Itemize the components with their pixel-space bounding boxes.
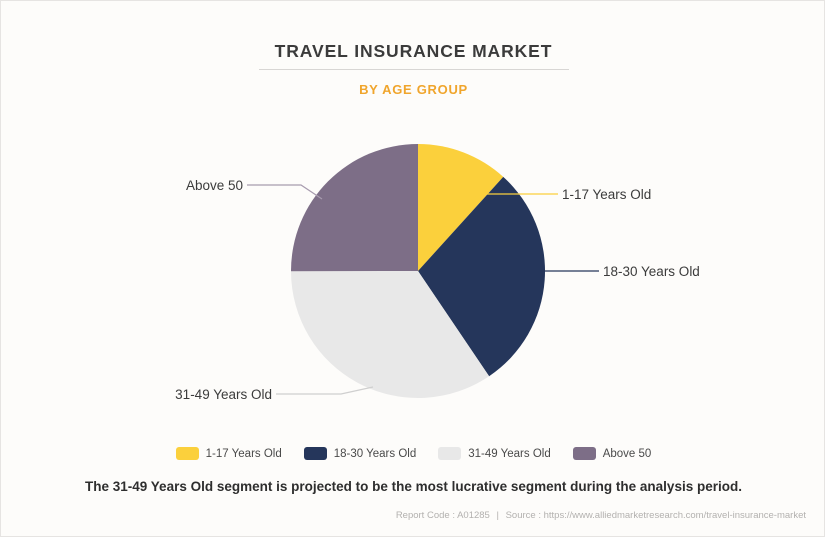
pie-label-above-50: Above 50: [186, 178, 243, 193]
pie-slice-above-50[interactable]: [291, 144, 418, 271]
leader-line-above-50: [247, 185, 322, 199]
pie-label-31-49: 31-49 Years Old: [175, 387, 272, 402]
leader-line-31-49: [276, 387, 373, 394]
chart-subtitle: BY AGE GROUP: [1, 82, 825, 97]
pie-svg: 1-17 Years Old 18-30 Years Old 31-49 Yea…: [1, 111, 825, 431]
report-code: Report Code : A01285: [396, 510, 490, 521]
chart-legend: 1-17 Years Old 18-30 Years Old 31-49 Yea…: [1, 447, 825, 460]
legend-item-label: Above 50: [603, 448, 652, 460]
legend-item-label: 31-49 Years Old: [468, 448, 550, 460]
pie-chart-plot: 1-17 Years Old 18-30 Years Old 31-49 Yea…: [1, 111, 825, 431]
page-title: TRAVEL INSURANCE MARKET: [1, 41, 825, 61]
pie-slices-final: [291, 144, 545, 398]
legend-item-above-50[interactable]: Above 50: [573, 447, 652, 460]
legend-item-1-17-years-old[interactable]: 1-17 Years Old: [176, 447, 282, 460]
footer-separator: |: [492, 510, 502, 521]
legend-swatch-icon: [176, 447, 199, 460]
pie-label-1-17: 1-17 Years Old: [562, 187, 651, 202]
pie-label-18-30: 18-30 Years Old: [603, 264, 700, 279]
chart-footer: Report Code : A01285 | Source : https://…: [396, 510, 806, 521]
legend-item-31-49-years-old[interactable]: 31-49 Years Old: [438, 447, 550, 460]
chart-card: TRAVEL INSURANCE MARKET BY AGE GROUP: [0, 0, 825, 537]
legend-item-18-30-years-old[interactable]: 18-30 Years Old: [304, 447, 416, 460]
legend-swatch-icon: [573, 447, 596, 460]
chart-caption: The 31-49 Years Old segment is projected…: [1, 479, 825, 494]
title-divider: [259, 69, 569, 70]
legend-item-label: 1-17 Years Old: [206, 448, 282, 460]
source-url[interactable]: Source : https://www.alliedmarketresearc…: [506, 510, 806, 521]
legend-swatch-icon: [304, 447, 327, 460]
chart-header: TRAVEL INSURANCE MARKET BY AGE GROUP: [1, 41, 825, 97]
legend-swatch-icon: [438, 447, 461, 460]
legend-item-label: 18-30 Years Old: [334, 448, 416, 460]
